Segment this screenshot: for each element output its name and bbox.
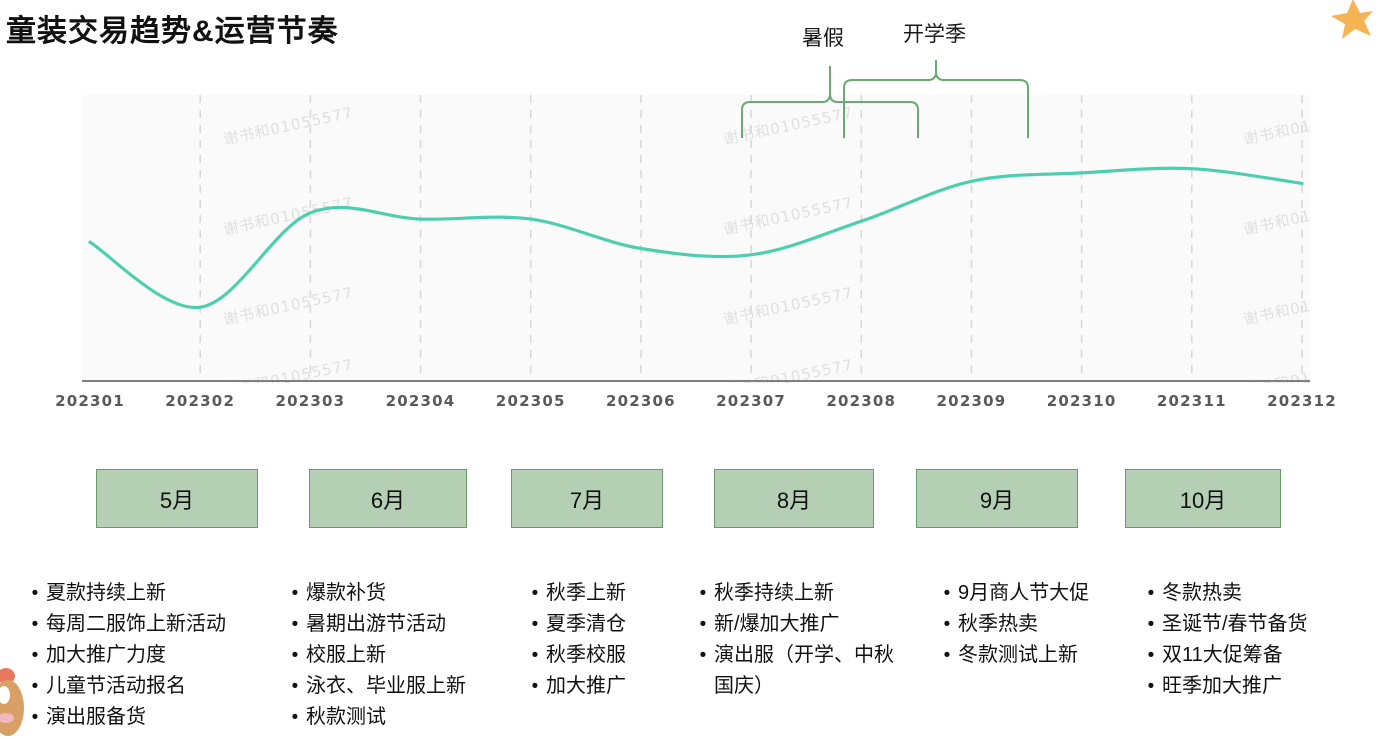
list-item-text: 校服上新 <box>306 640 386 671</box>
bullet-icon: • <box>1140 671 1162 702</box>
month-box-label: 5月 <box>160 483 194 515</box>
bullet-icon: • <box>936 609 958 640</box>
list-item: •演出服（开学、中秋 国庆） <box>692 640 894 702</box>
month-box-label: 7月 <box>570 483 604 515</box>
x-axis-tick-label: 202305 <box>496 392 566 410</box>
x-axis-tick-label: 202311 <box>1157 392 1227 410</box>
bullet-icon: • <box>284 640 306 671</box>
list-item: •加大推广力度 <box>24 640 226 671</box>
list-item: •冬款测试上新 <box>936 640 1089 671</box>
annotation-label-summer-vacation: 暑假 <box>802 22 844 52</box>
list-item-text: 每周二服饰上新活动 <box>46 609 226 640</box>
list-item: •旺季加大推广 <box>1140 671 1308 702</box>
x-axis-tick-label: 202309 <box>937 392 1007 410</box>
list-item-text: 加大推广 <box>546 671 626 702</box>
plan-column-5月: •夏款持续上新•每周二服饰上新活动•加大推广力度•儿童节活动报名•演出服备货 <box>24 578 226 733</box>
x-axis-tick-label: 202312 <box>1267 392 1337 410</box>
list-item: •新/爆加大推广 <box>692 609 894 640</box>
x-axis-tick-label: 202308 <box>826 392 896 410</box>
list-item: •爆款补货 <box>284 578 466 609</box>
star-decoration-icon <box>1328 0 1374 42</box>
chart-x-axis-line <box>82 380 1310 382</box>
month-box-6[interactable]: 6月 <box>309 469 467 528</box>
bullet-icon: • <box>24 671 46 702</box>
list-item: •演出服备货 <box>24 702 226 733</box>
list-item: •儿童节活动报名 <box>24 671 226 702</box>
bullet-icon: • <box>1140 578 1162 609</box>
list-item: •加大推广 <box>524 671 626 702</box>
page-title: 童装交易趋势&运营节奏 <box>6 6 339 50</box>
slide-root: 童装交易趋势&运营节奏 谢书和01055577 谢书和01055577 谢书和0… <box>0 0 1380 738</box>
plan-column-8月: •秋季持续上新•新/爆加大推广•演出服（开学、中秋 国庆） <box>692 578 894 702</box>
list-item: •秋季上新 <box>524 578 626 609</box>
chart-x-axis-labels: 2023012023022023032023042023052023062023… <box>82 392 1310 414</box>
bullet-icon: • <box>936 578 958 609</box>
list-item: •夏季清仓 <box>524 609 626 640</box>
month-box-label: 10月 <box>1180 483 1226 515</box>
plan-column-9月: •9月商人节大促•秋季热卖•冬款测试上新 <box>936 578 1089 671</box>
bullet-icon: • <box>284 578 306 609</box>
plan-column-10月: •冬款热卖•圣诞节/春节备货•双11大促筹备•旺季加大推广 <box>1140 578 1308 702</box>
list-item-text: 秋季热卖 <box>958 609 1038 640</box>
list-item-text: 加大推广力度 <box>46 640 166 671</box>
list-item-text: 演出服备货 <box>46 702 146 733</box>
list-item-text: 演出服（开学、中秋 国庆） <box>714 640 894 702</box>
annotation-label-back-to-school: 开学季 <box>903 18 966 48</box>
x-axis-tick-label: 202307 <box>716 392 786 410</box>
list-item: •秋季校服 <box>524 640 626 671</box>
month-box-5[interactable]: 5月 <box>96 469 258 528</box>
x-axis-tick-label: 202303 <box>275 392 345 410</box>
list-item: •校服上新 <box>284 640 466 671</box>
chart-canvas <box>82 95 1310 383</box>
x-axis-tick-label: 202306 <box>606 392 676 410</box>
list-item-text: 夏款持续上新 <box>46 578 166 609</box>
bullet-icon: • <box>692 640 714 671</box>
trend-chart: 谢书和01055577 谢书和01055577 谢书和01055577 谢书和0… <box>82 95 1310 383</box>
list-item-text: 冬款热卖 <box>1162 578 1242 609</box>
month-box-row: 5月6月7月8月9月10月 <box>0 469 1380 529</box>
bullet-icon: • <box>936 640 958 671</box>
list-item-text: 泳衣、毕业服上新 <box>306 671 466 702</box>
bullet-icon: • <box>24 578 46 609</box>
chart-annotation-braces <box>730 60 1050 140</box>
list-item-text: 暑期出游节活动 <box>306 609 446 640</box>
plan-column-7月: •秋季上新•夏季清仓•秋季校服•加大推广 <box>524 578 626 702</box>
bullet-icon: • <box>524 609 546 640</box>
bullet-icon: • <box>1140 640 1162 671</box>
list-item: •圣诞节/春节备货 <box>1140 609 1308 640</box>
list-item: •泳衣、毕业服上新 <box>284 671 466 702</box>
x-axis-tick-label: 202310 <box>1047 392 1117 410</box>
list-item: •暑期出游节活动 <box>284 609 466 640</box>
list-item: •双11大促筹备 <box>1140 640 1308 671</box>
bullet-icon: • <box>524 578 546 609</box>
list-item: •秋款测试 <box>284 702 466 733</box>
list-item-text: 秋季持续上新 <box>714 578 834 609</box>
bullet-icon: • <box>524 640 546 671</box>
list-item-text: 秋季校服 <box>546 640 626 671</box>
bullet-icon: • <box>692 578 714 609</box>
list-item: •每周二服饰上新活动 <box>24 609 226 640</box>
month-box-label: 6月 <box>371 483 405 515</box>
list-item-text: 圣诞节/春节备货 <box>1162 609 1308 640</box>
x-axis-tick-label: 202304 <box>386 392 456 410</box>
bullet-icon: • <box>284 702 306 733</box>
list-item: •秋季持续上新 <box>692 578 894 609</box>
bullet-icon: • <box>1140 609 1162 640</box>
month-box-9[interactable]: 9月 <box>916 469 1078 528</box>
bullet-icon: • <box>524 671 546 702</box>
list-item-text: 双11大促筹备 <box>1162 640 1283 671</box>
list-item-text: 爆款补货 <box>306 578 386 609</box>
list-item-text: 9月商人节大促 <box>958 578 1089 609</box>
month-box-label: 8月 <box>777 483 811 515</box>
bullet-icon: • <box>24 609 46 640</box>
list-item: •秋季热卖 <box>936 609 1089 640</box>
plan-column-6月: •爆款补货•暑期出游节活动•校服上新•泳衣、毕业服上新•秋款测试 <box>284 578 466 733</box>
bullet-icon: • <box>24 702 46 733</box>
bullet-icon: • <box>284 609 306 640</box>
list-item-text: 儿童节活动报名 <box>46 671 186 702</box>
bullet-icon: • <box>692 609 714 640</box>
chart-series-line <box>90 168 1302 307</box>
list-item-text: 夏季清仓 <box>546 609 626 640</box>
x-axis-tick-label: 202301 <box>55 392 125 410</box>
month-box-label: 9月 <box>980 483 1014 515</box>
list-item-text: 旺季加大推广 <box>1162 671 1282 702</box>
list-item: •夏款持续上新 <box>24 578 226 609</box>
plan-bullet-columns: •夏款持续上新•每周二服饰上新活动•加大推广力度•儿童节活动报名•演出服备货•爆… <box>0 578 1380 738</box>
month-box-10[interactable]: 10月 <box>1125 469 1281 528</box>
month-box-8[interactable]: 8月 <box>714 469 874 528</box>
bullet-icon: • <box>24 640 46 671</box>
month-box-7[interactable]: 7月 <box>511 469 663 528</box>
list-item-text: 秋季上新 <box>546 578 626 609</box>
list-item: •冬款热卖 <box>1140 578 1308 609</box>
list-item-text: 冬款测试上新 <box>958 640 1078 671</box>
list-item-text: 秋款测试 <box>306 702 386 733</box>
x-axis-tick-label: 202302 <box>165 392 235 410</box>
list-item-text: 新/爆加大推广 <box>714 609 840 640</box>
bullet-icon: • <box>284 671 306 702</box>
list-item: •9月商人节大促 <box>936 578 1089 609</box>
